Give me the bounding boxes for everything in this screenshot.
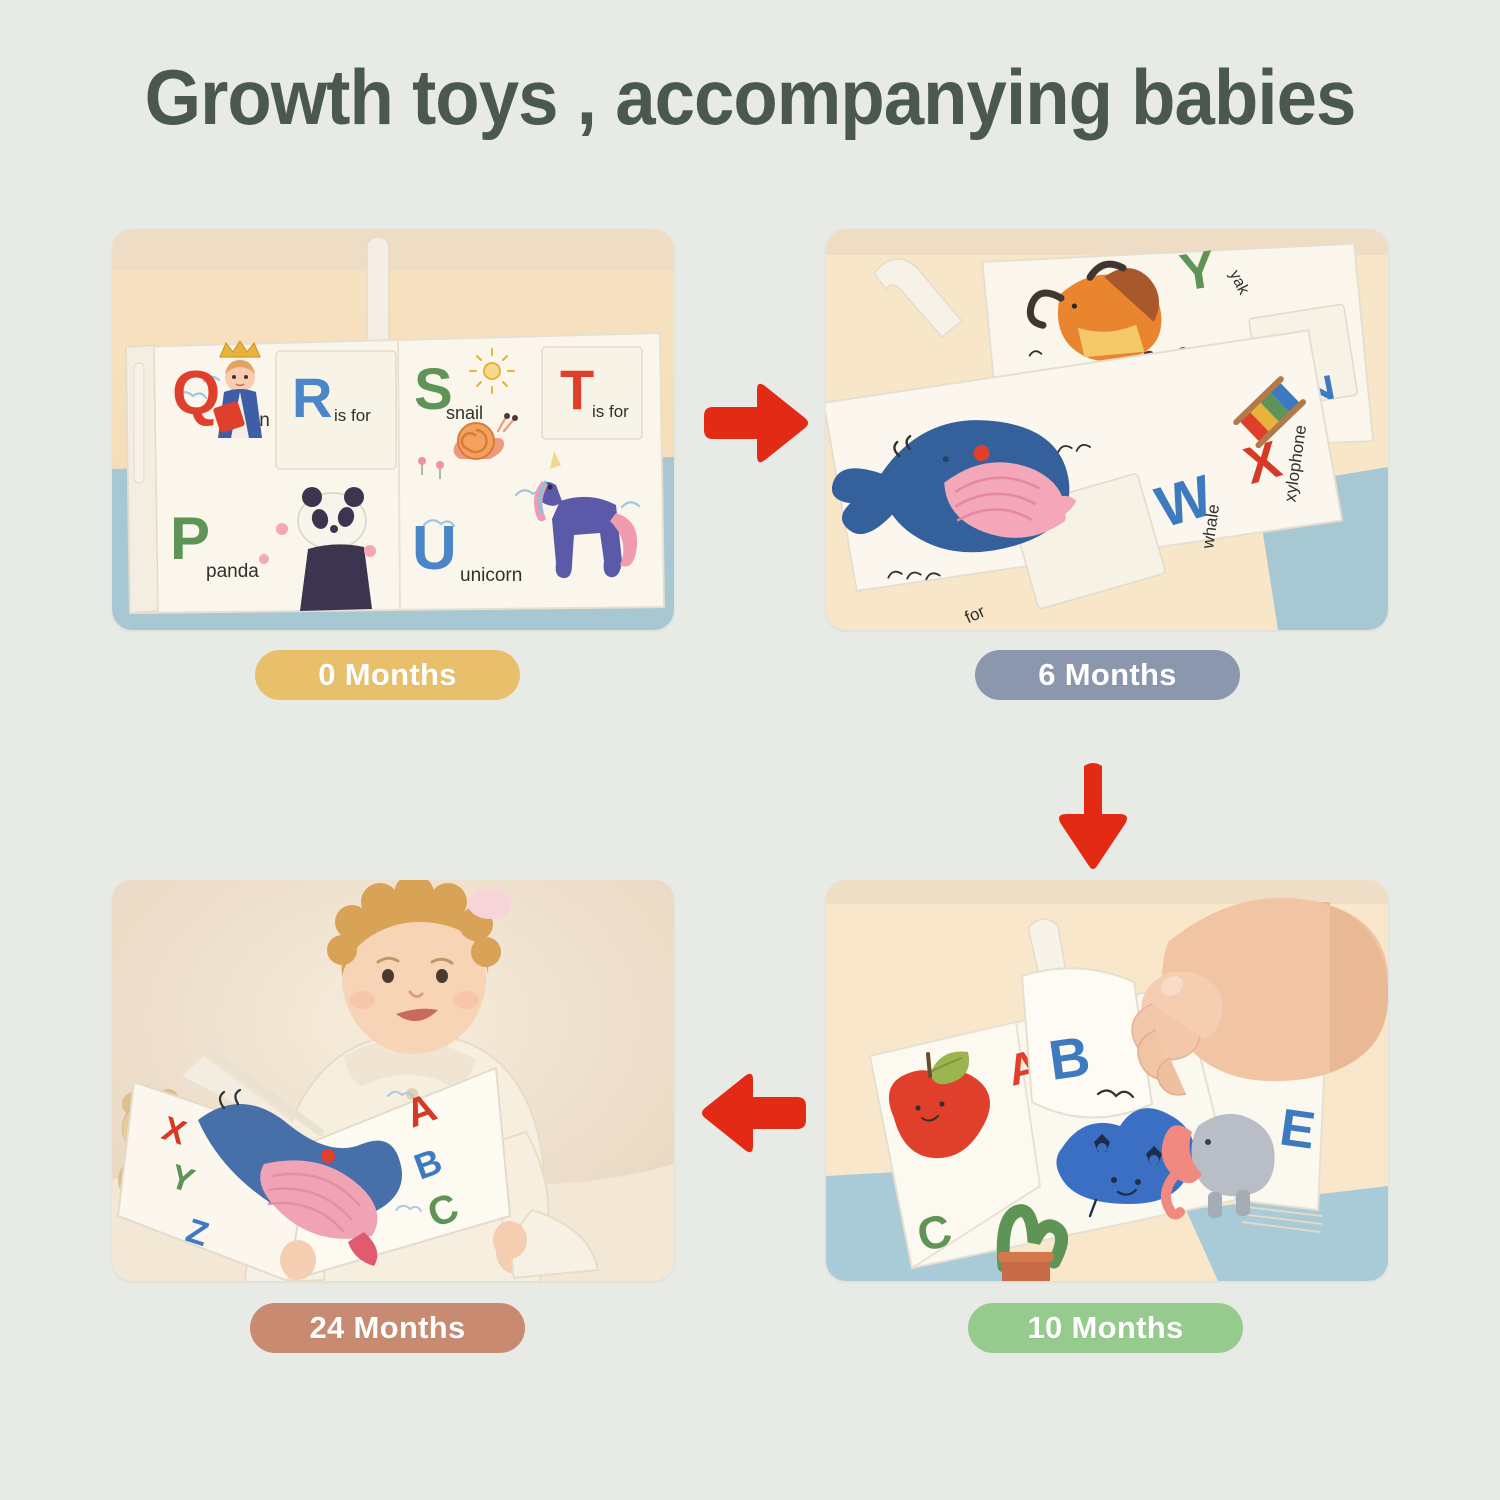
svg-text:T: T (560, 358, 594, 421)
svg-text:R: R (292, 366, 332, 429)
stage-label-0-months: 0 Months (255, 650, 520, 700)
stage-label-24-months: 24 Months (250, 1303, 525, 1353)
photo-24-months-illustration: X Y Z A B (112, 880, 674, 1281)
photo-10-months-illustration: A C B (826, 880, 1388, 1281)
svg-text:P: P (170, 505, 210, 572)
svg-text:is for: is for (334, 406, 371, 425)
page-title: Growth toys , accompanying babies (53, 52, 1448, 143)
photo-panel-24-months[interactable]: X Y Z A B (112, 880, 674, 1281)
stage-label-10-months: 10 Months (968, 1303, 1243, 1353)
photo-panel-6-months[interactable]: Y yak Z (826, 229, 1388, 630)
svg-text:panda: panda (206, 561, 259, 582)
svg-text:snail: snail (446, 403, 483, 423)
svg-text:U: U (412, 514, 457, 583)
svg-text:Q: Q (172, 359, 220, 428)
stage-label-6-months: 6 Months (975, 650, 1240, 700)
svg-text:unicorn: unicorn (460, 565, 522, 586)
photo-0-months-illustration: Q queen R is for S snail (112, 229, 674, 630)
photo-panel-0-months[interactable]: Q queen R is for S snail (112, 229, 674, 630)
flow-arrow-down-icon (1048, 760, 1138, 872)
svg-text:is for: is for (592, 402, 629, 421)
flow-arrow-right-icon (700, 378, 810, 468)
flow-arrow-left-icon (700, 1068, 810, 1158)
photo-6-months-illustration: Y yak Z (826, 229, 1388, 630)
photo-panel-10-months[interactable]: A C B (826, 880, 1388, 1281)
